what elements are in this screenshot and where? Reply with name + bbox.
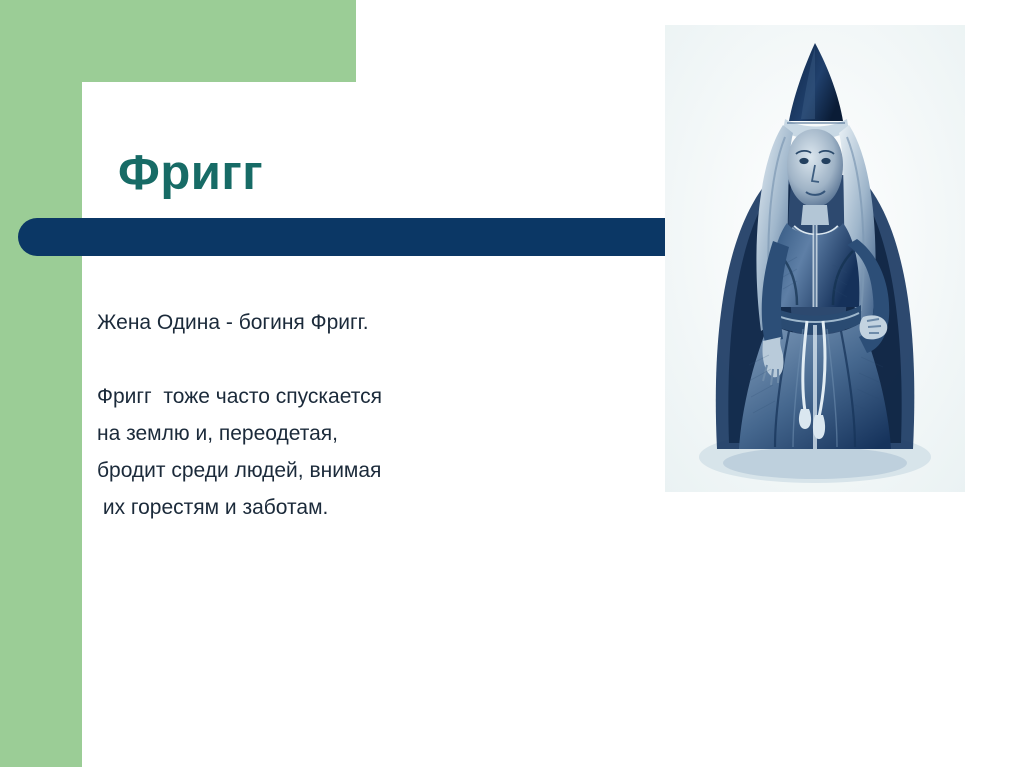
green-top-band-decoration [0,0,356,82]
body-line-1: Жена Одина - богиня Фригг. [97,304,617,341]
presentation-slide: Фригг Жена Одина - богиня Фригг. Фригг т… [0,0,1024,767]
body-line-3: на землю и, переодетая, [97,415,617,452]
body-text-block: Жена Одина - богиня Фригг. Фригг тоже ча… [97,304,617,526]
green-left-strip-decoration [0,0,82,767]
navy-title-rule-decoration [18,218,672,256]
body-line-5: их горестям и заботам. [97,489,617,526]
body-line-4: бродит среди людей, внимая [97,452,617,489]
page-title: Фригг [118,148,263,199]
body-line-2: Фригг тоже часто спускается [97,378,617,415]
frigg-portrait-image [665,25,965,492]
body-paragraph-gap [97,341,617,378]
